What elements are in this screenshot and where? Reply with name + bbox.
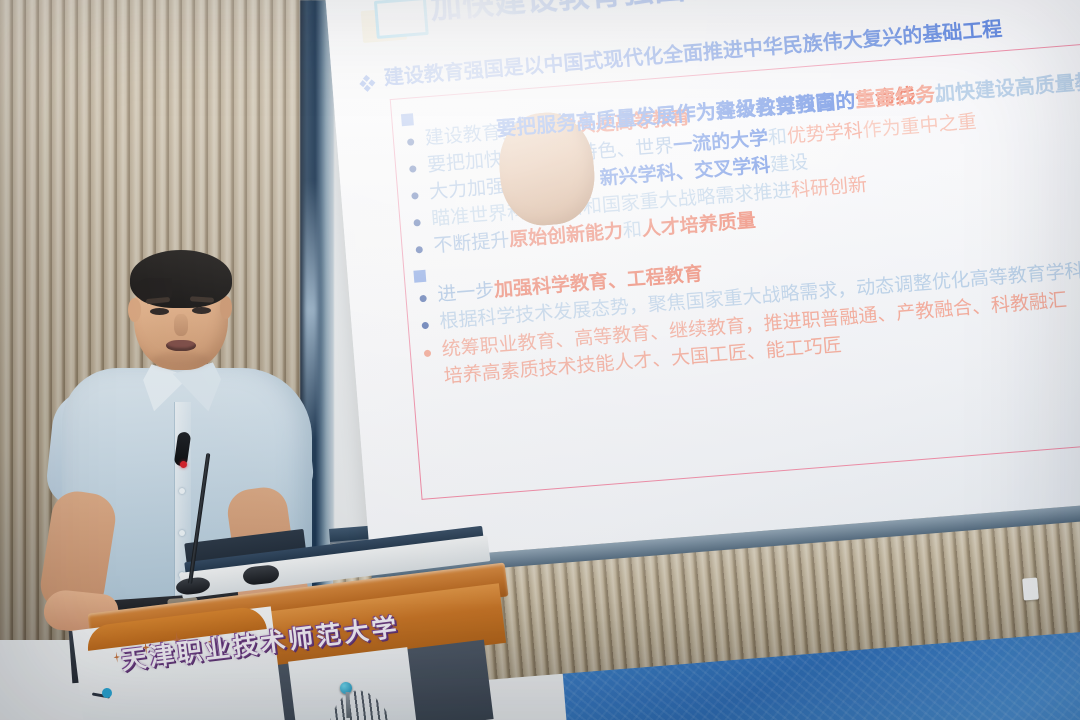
- slide-text-run: 优势学科: [786, 121, 863, 148]
- lectern: 天津职业技术师范大学: [80, 536, 560, 720]
- diamond-bullet-icon: [360, 75, 375, 90]
- dot-bullet-icon: [407, 138, 415, 146]
- dot-bullet-icon: [411, 192, 419, 200]
- slide-text-run: 。: [934, 82, 956, 106]
- slide-text-run: 进一步: [437, 281, 496, 306]
- lecture-hall-photo: 加快建设教育强国、为中华民族伟大复兴提供有力 建设教育强国是以中国式现代化全面推…: [0, 0, 1080, 720]
- lectern-vent-slots: [311, 659, 406, 720]
- slide-text-run: 大力加强: [428, 176, 505, 203]
- chin-shadow: [152, 352, 210, 368]
- slide-bullet-list: 要坚持把高质量发展作为各级各类教育的生命线，加快建设高质量教育体系建设教育强国，…: [400, 48, 1080, 393]
- dot-bullet-icon: [419, 295, 427, 303]
- wall-sensor-icon: [1022, 577, 1039, 600]
- square-bullet-icon: [413, 270, 426, 283]
- lectern-key[interactable]: [346, 692, 351, 718]
- nose: [174, 314, 188, 336]
- eye-right: [192, 307, 211, 314]
- dot-bullet-icon: [416, 246, 424, 254]
- dot-bullet-icon: [424, 349, 432, 357]
- dot-bullet-icon: [413, 219, 421, 227]
- ear-right: [220, 296, 232, 319]
- projection-screen: 加快建设教育强国、为中华民族伟大复兴提供有力 建设教育强国是以中国式现代化全面推…: [322, 0, 1080, 562]
- mouth: [166, 340, 196, 351]
- slide-text-run: 科研创新: [790, 175, 867, 202]
- slide-text-run: 不断提升: [433, 230, 510, 257]
- slide-text-run: 建设: [769, 152, 809, 176]
- dot-bullet-icon: [422, 322, 430, 330]
- cyan-rectangle-icon: [374, 0, 429, 39]
- square-bullet-icon: [401, 113, 414, 126]
- dot-bullet-icon: [409, 165, 417, 173]
- slide-text-run: 和: [767, 127, 788, 149]
- slide-text-run: 一流的大学: [673, 128, 769, 156]
- eye-left: [150, 308, 169, 315]
- ear-left: [128, 298, 141, 322]
- shirt-button: [179, 488, 185, 494]
- slide-text-run: 和: [622, 220, 643, 242]
